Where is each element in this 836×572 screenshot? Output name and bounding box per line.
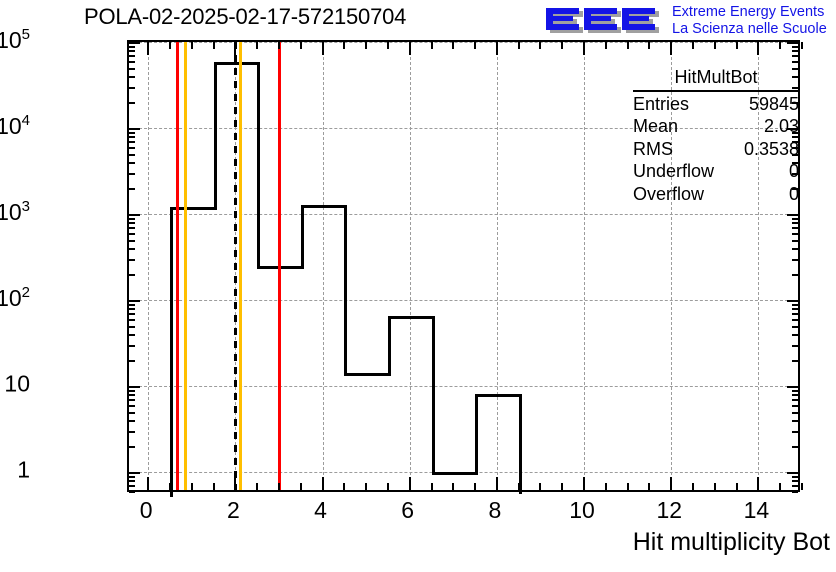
axis-tick xyxy=(787,472,798,474)
stats-label: Entries xyxy=(633,93,689,116)
stats-row: Underflow0 xyxy=(633,160,799,183)
axis-tick xyxy=(801,483,803,490)
axis-tick xyxy=(129,480,135,482)
axis-tick xyxy=(792,360,798,362)
axis-tick xyxy=(792,233,798,235)
axis-tick xyxy=(474,483,476,490)
axis-tick xyxy=(583,477,585,490)
axis-tick xyxy=(129,405,135,407)
stats-value: 0.3538 xyxy=(744,138,799,161)
stats-row: Mean2.03 xyxy=(633,115,799,138)
axis-tick xyxy=(129,154,135,156)
axis-tick xyxy=(169,42,171,49)
axis-tick xyxy=(234,42,236,55)
axis-tick xyxy=(129,50,135,52)
axis-tick xyxy=(343,483,345,490)
axis-tick xyxy=(496,477,498,490)
axis-tick xyxy=(792,476,798,478)
stats-title: HitMultBot xyxy=(633,66,799,92)
axis-tick xyxy=(792,218,798,220)
axis-tick xyxy=(129,334,135,336)
axis-tick xyxy=(561,42,563,49)
y-axis-tick-label: 105 xyxy=(0,26,30,54)
axis-tick xyxy=(496,42,498,55)
axis-tick xyxy=(792,61,798,63)
axis-tick xyxy=(792,240,798,242)
axis-tick xyxy=(787,300,798,302)
eee-logo: Extreme Energy Events La Scienza nelle S… xyxy=(530,2,830,42)
axis-tick xyxy=(129,399,135,401)
axis-tick xyxy=(365,483,367,490)
axis-tick xyxy=(129,240,135,242)
axis-tick xyxy=(129,42,140,44)
eee-logo-mark xyxy=(542,5,662,37)
axis-tick xyxy=(787,214,798,216)
axis-tick xyxy=(792,390,798,392)
axis-tick xyxy=(583,42,585,55)
stats-value: 0 xyxy=(789,183,799,206)
axis-tick xyxy=(300,483,302,490)
y-axis-tick-label: 10 xyxy=(4,370,30,397)
axis-tick xyxy=(670,477,672,490)
axis-tick xyxy=(256,42,258,49)
axis-tick xyxy=(129,188,135,190)
page-title: POLA-02-2025-02-17-572150704 xyxy=(84,4,406,30)
axis-tick xyxy=(409,477,411,490)
axis-tick xyxy=(474,42,476,49)
axis-tick xyxy=(792,485,798,487)
eee-logo-line1: Extreme Energy Events xyxy=(672,4,827,21)
axis-tick xyxy=(129,68,135,70)
axis-tick xyxy=(365,42,367,49)
axis-tick xyxy=(792,480,798,482)
axis-tick xyxy=(213,42,215,49)
axis-tick xyxy=(792,446,798,448)
axis-tick xyxy=(736,483,738,490)
axis-tick xyxy=(561,483,563,490)
axis-tick xyxy=(278,42,280,49)
axis-tick xyxy=(129,394,135,396)
axis-tick xyxy=(518,42,520,49)
x-axis-tick-label: 4 xyxy=(314,497,327,524)
axis-tick xyxy=(757,42,759,55)
axis-tick xyxy=(129,431,135,433)
axis-tick xyxy=(452,483,454,490)
axis-tick xyxy=(129,308,135,310)
axis-tick xyxy=(256,483,258,490)
y-axis-tick-label: 102 xyxy=(0,284,30,312)
axis-tick xyxy=(452,42,454,49)
axis-tick xyxy=(129,412,135,414)
axis-tick xyxy=(792,431,798,433)
x-axis-tick-label: 14 xyxy=(744,497,770,524)
axis-tick xyxy=(129,132,135,134)
axis-tick xyxy=(779,483,781,490)
axis-tick xyxy=(129,300,140,302)
axis-tick xyxy=(129,360,135,362)
axis-tick xyxy=(792,227,798,229)
axis-tick xyxy=(670,42,672,55)
stats-label: Overflow xyxy=(633,183,704,206)
axis-tick xyxy=(409,42,411,55)
axis-tick xyxy=(792,326,798,328)
axis-tick xyxy=(714,483,716,490)
axis-tick xyxy=(431,483,433,490)
axis-tick xyxy=(129,55,135,57)
eee-logo-text: Extreme Energy Events La Scienza nelle S… xyxy=(672,4,827,37)
axis-tick xyxy=(169,483,171,490)
axis-tick xyxy=(431,42,433,49)
axis-tick xyxy=(605,483,607,490)
axis-tick xyxy=(322,477,324,490)
axis-tick xyxy=(792,319,798,321)
axis-tick xyxy=(129,274,135,276)
axis-tick xyxy=(736,42,738,49)
axis-tick xyxy=(129,214,140,216)
axis-tick xyxy=(792,308,798,310)
axis-tick xyxy=(129,326,135,328)
axis-tick xyxy=(129,248,135,250)
eee-logo-line2: La Scienza nelle Scuole xyxy=(672,21,827,38)
axis-tick xyxy=(129,472,140,474)
stats-label: Underflow xyxy=(633,160,714,183)
axis-tick xyxy=(792,394,798,396)
axis-tick xyxy=(792,55,798,57)
axis-tick xyxy=(129,390,135,392)
axis-tick xyxy=(129,61,135,63)
axis-tick xyxy=(129,227,135,229)
axis-tick xyxy=(129,386,140,388)
axis-tick xyxy=(129,313,135,315)
axis-tick xyxy=(627,483,629,490)
x-axis-tick-label: 6 xyxy=(401,497,414,524)
axis-tick xyxy=(792,334,798,336)
stats-value: 59845 xyxy=(749,93,799,116)
axis-tick xyxy=(792,313,798,315)
stats-row: Entries59845 xyxy=(633,93,799,116)
axis-tick xyxy=(129,141,135,143)
axis-tick xyxy=(787,386,798,388)
axis-tick xyxy=(792,222,798,224)
axis-tick xyxy=(129,345,135,347)
axis-tick xyxy=(300,42,302,49)
axis-tick xyxy=(648,42,650,49)
x-axis-tick-label: 0 xyxy=(140,497,153,524)
axis-tick xyxy=(792,259,798,261)
axis-tick xyxy=(792,274,798,276)
axis-tick xyxy=(387,42,389,49)
axis-tick xyxy=(234,477,236,490)
stats-label: Mean xyxy=(633,115,678,138)
axis-tick xyxy=(779,42,781,49)
axis-tick xyxy=(692,483,694,490)
axis-tick xyxy=(129,420,135,422)
axis-tick xyxy=(792,420,798,422)
axis-tick xyxy=(787,42,798,44)
axis-tick xyxy=(213,483,215,490)
axis-tick xyxy=(147,477,149,490)
x-axis-tick-label: 10 xyxy=(569,497,595,524)
axis-tick xyxy=(792,248,798,250)
stats-rows: Entries59845Mean2.03RMS0.3538Underflow0O… xyxy=(633,93,799,206)
y-axis-tick-label: 104 xyxy=(0,112,30,140)
axis-tick xyxy=(129,46,135,48)
axis-tick xyxy=(605,42,607,49)
axis-tick xyxy=(129,476,135,478)
axis-tick xyxy=(648,483,650,490)
axis-tick xyxy=(129,485,135,487)
axis-tick xyxy=(129,446,135,448)
stats-value: 0 xyxy=(789,160,799,183)
axis-tick xyxy=(692,42,694,49)
axis-tick xyxy=(792,345,798,347)
stats-row: RMS0.3538 xyxy=(633,138,799,161)
x-axis-tick-label: 8 xyxy=(488,497,501,524)
y-axis-tick-label: 1 xyxy=(17,456,30,483)
axis-tick xyxy=(129,128,140,130)
axis-tick xyxy=(191,42,193,49)
axis-tick xyxy=(129,173,135,175)
axis-tick xyxy=(129,218,135,220)
axis-tick xyxy=(539,42,541,49)
stats-row: Overflow0 xyxy=(633,183,799,206)
axis-tick xyxy=(627,42,629,49)
axis-tick xyxy=(792,304,798,306)
y-axis-tick-label: 103 xyxy=(0,198,30,226)
axis-tick xyxy=(129,136,135,138)
eee-letters-icon xyxy=(542,5,662,37)
axis-tick xyxy=(322,42,324,55)
axis-tick xyxy=(518,483,520,490)
axis-tick xyxy=(129,102,135,104)
axis-tick xyxy=(129,319,135,321)
axis-tick xyxy=(129,233,135,235)
x-axis-tick-label: 12 xyxy=(656,497,682,524)
axis-tick xyxy=(343,42,345,49)
axis-tick xyxy=(792,491,798,493)
x-axis-title: Hit multiplicity Bot xyxy=(633,528,830,557)
axis-tick xyxy=(792,50,798,52)
root-canvas: POLA-02-2025-02-17-572150704 xyxy=(0,0,836,572)
axis-tick xyxy=(147,42,149,55)
axis-tick xyxy=(129,162,135,164)
axis-tick xyxy=(792,46,798,48)
axis-tick xyxy=(129,147,135,149)
axis-tick xyxy=(792,399,798,401)
axis-tick xyxy=(129,491,135,493)
axis-tick xyxy=(714,42,716,49)
x-axis-tick-label: 2 xyxy=(227,497,240,524)
stats-value: 2.03 xyxy=(764,115,799,138)
axis-tick xyxy=(539,483,541,490)
axis-tick xyxy=(191,483,193,490)
axis-tick xyxy=(129,304,135,306)
axis-tick xyxy=(757,477,759,490)
axis-tick xyxy=(792,412,798,414)
axis-tick xyxy=(801,42,803,49)
axis-tick xyxy=(278,483,280,490)
axis-tick xyxy=(792,405,798,407)
axis-tick xyxy=(129,87,135,89)
axis-tick xyxy=(129,259,135,261)
axis-tick xyxy=(387,483,389,490)
axis-tick xyxy=(129,222,135,224)
stats-label: RMS xyxy=(633,138,673,161)
stats-box: HitMultBot Entries59845Mean2.03RMS0.3538… xyxy=(633,66,799,205)
axis-tick xyxy=(129,76,135,78)
